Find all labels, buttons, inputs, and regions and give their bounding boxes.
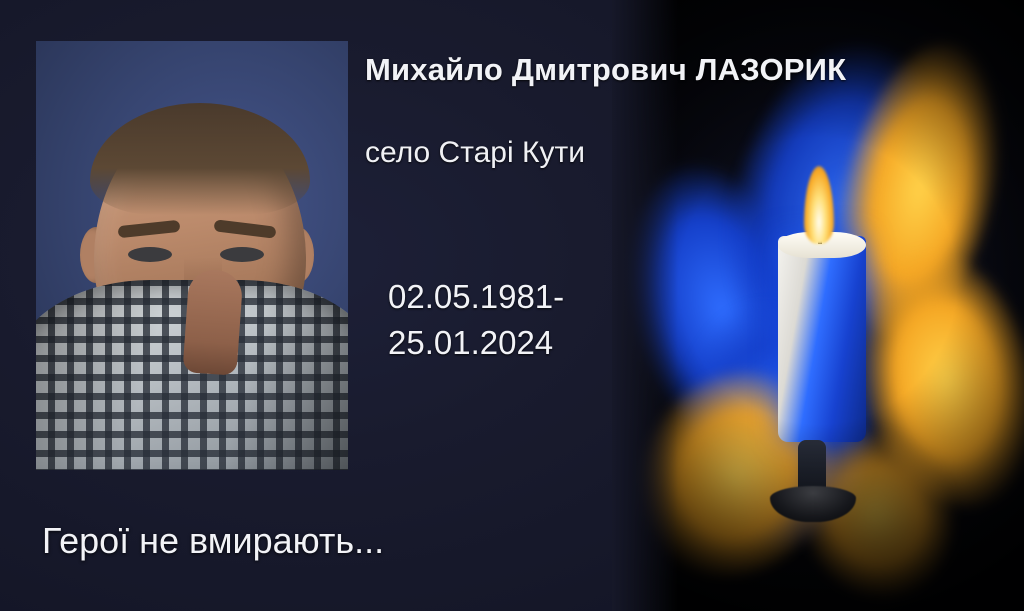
candle-body	[778, 236, 866, 442]
portrait-eye-right	[220, 247, 264, 262]
memorial-motto: Герої не вмирають...	[42, 520, 384, 562]
life-dates: 02.05.1981- 25.01.2024	[388, 274, 564, 366]
portrait-eye-left	[128, 247, 172, 262]
date-of-death: 25.01.2024	[388, 320, 564, 366]
memorial-card: Михайло Дмитрович ЛАЗОРИК село Старі Кут…	[0, 0, 1024, 611]
date-of-birth: 02.05.1981-	[388, 274, 564, 320]
deceased-full-name: Михайло Дмитрович ЛАЗОРИК	[365, 52, 846, 88]
portrait-photo	[36, 41, 348, 470]
village-name: село Старі Кути	[365, 136, 585, 170]
candle-artwork	[612, 0, 1024, 611]
portrait-collar-opening	[182, 268, 243, 376]
